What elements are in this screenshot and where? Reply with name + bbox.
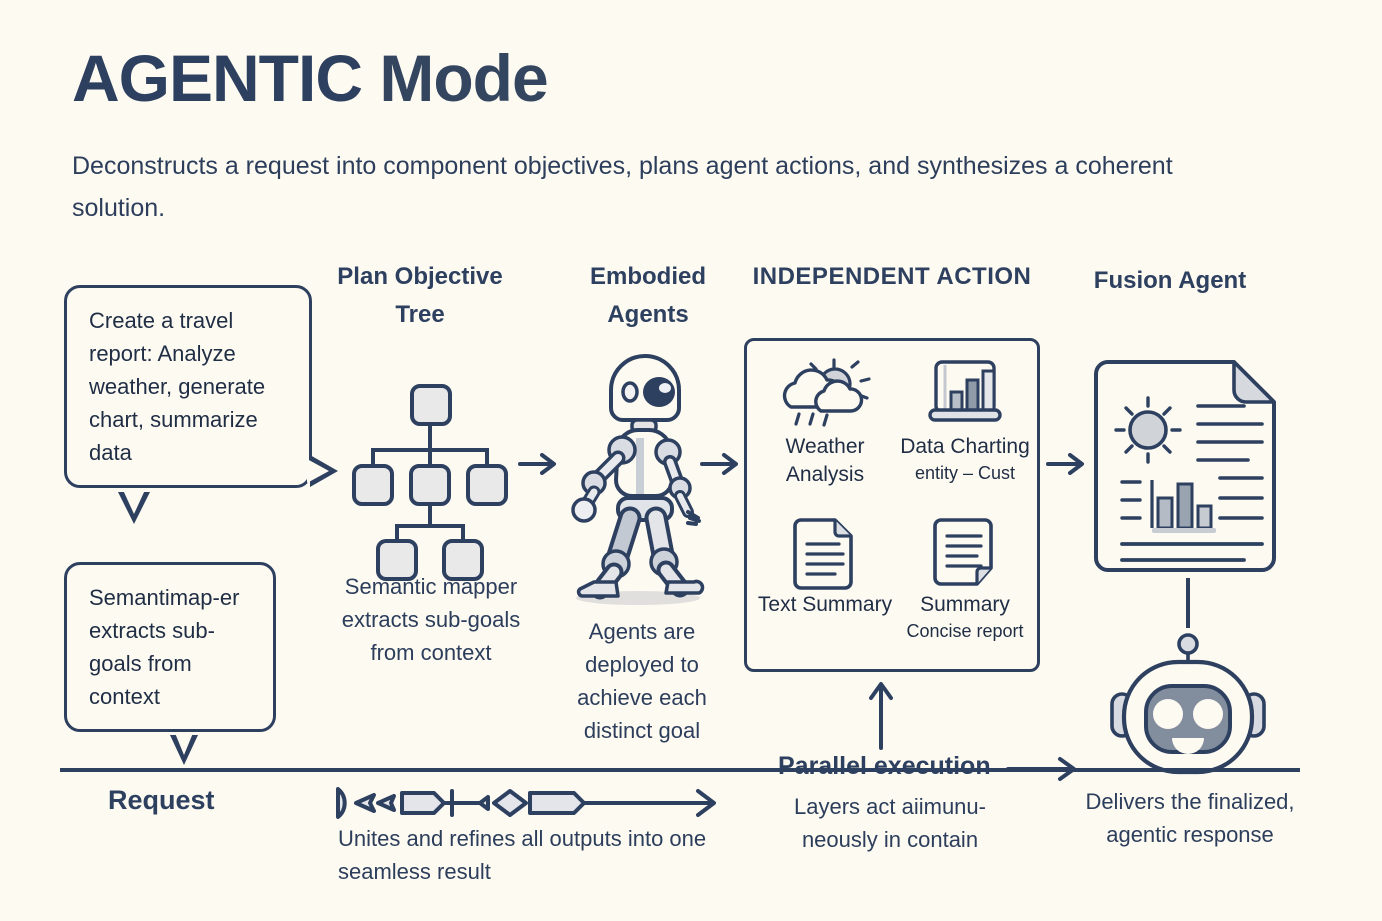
arrow-right-icon <box>1006 752 1082 786</box>
action-cell-text-summary[interactable]: Text Summary <box>755 513 895 619</box>
caption-fusion: Delivers the finalized, agentic response <box>1080 785 1300 851</box>
title-bold-part: AGENTIC <box>72 41 362 115</box>
page-title: AGENTIC Mode <box>72 40 548 116</box>
action-cell-weather[interactable]: Weather Analysis <box>755 355 895 489</box>
caption-embodied: Agents are deployed to achieve each dist… <box>552 615 732 747</box>
heading-embodied-agents: Embodied Agents <box>548 258 748 334</box>
caption-parallel: Layers act aiimunu-neously in contain <box>760 790 1020 856</box>
independent-action-box: Weather Analysis Data Charting entity – … <box>744 338 1040 672</box>
text-document-icon <box>755 513 895 591</box>
dash-left-parallel <box>742 768 766 772</box>
caption-ribbon: Unites and refines all outputs into one … <box>338 822 708 888</box>
arrow-right-icon <box>1046 450 1090 478</box>
bar-chart-icon <box>895 355 1035 433</box>
action-sublabel: entity – Cust <box>895 461 1035 486</box>
chain-arrow-icon <box>334 783 724 823</box>
semantic-bubble: Semantimap-er extracts sub-goals from co… <box>64 562 276 732</box>
diagram-canvas: AGENTIC Mode Deconstructs a request into… <box>0 0 1382 921</box>
arrow-right-icon <box>700 450 744 478</box>
action-sublabel: Concise report <box>895 619 1035 644</box>
action-cell-data-charting[interactable]: Data Charting entity – Cust <box>895 355 1035 486</box>
action-cell-summary[interactable]: Summary Concise report <box>895 513 1035 644</box>
heading-fusion-agent: Fusion Agent <box>1080 262 1260 300</box>
title-light-part: Mode <box>379 41 547 115</box>
action-label: Text Summary <box>755 591 895 619</box>
heading-plan-objective-tree: Plan Objective Tree <box>330 258 510 334</box>
action-label: Summary <box>895 591 1035 619</box>
walking-robot-icon <box>556 352 726 607</box>
arrow-up-icon <box>866 678 896 750</box>
action-label: Data Charting <box>895 433 1035 461</box>
request-bubble-tail-bottom <box>118 492 150 524</box>
label-parallel-execution: Parallel execution <box>778 752 991 781</box>
robot-head-icon <box>1098 618 1278 784</box>
semantic-bubble-tail <box>170 735 198 765</box>
request-bubble-tail-right <box>310 455 338 487</box>
heading-independent-action: INDEPENDENT ACTION <box>752 258 1032 296</box>
action-label: Weather Analysis <box>755 433 895 489</box>
summary-document-icon <box>895 513 1035 591</box>
objective-tree-icon <box>340 378 520 568</box>
caption-plan: Semantic mapper extracts sub-goals from … <box>322 570 540 669</box>
weather-cloud-sun-rain-icon <box>755 355 895 433</box>
label-request: Request <box>108 785 215 816</box>
page-subtitle: Deconstructs a request into component ob… <box>72 145 1252 229</box>
report-document-icon <box>1096 358 1286 574</box>
horizontal-divider <box>60 768 1300 772</box>
request-bubble: Create a travel report: Analyze weather,… <box>64 285 312 488</box>
